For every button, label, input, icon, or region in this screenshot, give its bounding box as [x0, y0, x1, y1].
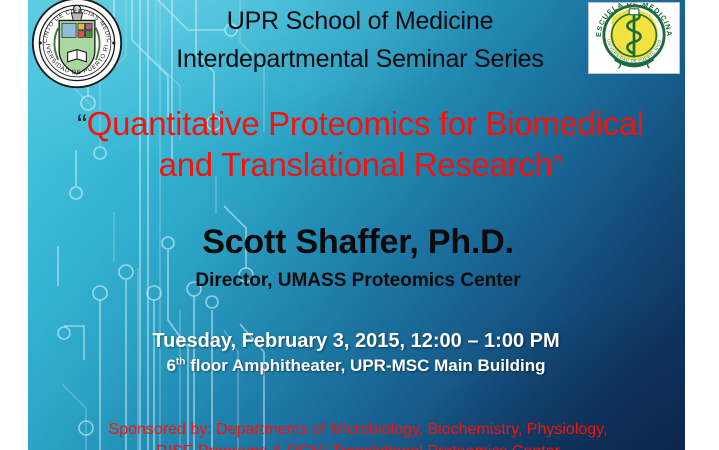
talk-title-line-1: “Quantitative Proteomics for Biomedical: [28, 104, 693, 145]
poster-header: RECINTO DE CIENCIAS MEDICAS UNIVERSIDAD …: [0, 0, 719, 96]
header-line-2: Interdepartmental Seminar Series: [140, 40, 580, 78]
escuela-de-medicina-seal-container: ESCUELA DE MEDICINA UNIVERSIDAD DE PUERT…: [588, 2, 680, 74]
quote-open: “: [77, 109, 87, 142]
speaker-name: Scott Shaffer, Ph.D.: [28, 222, 688, 262]
talk-title-text-1: Quantitative Proteomics for Biomedical: [87, 105, 644, 142]
sponsors-line-1: Sponsored by: Departments of Microbiolog…: [28, 419, 688, 441]
event-location-text: floor Amphitheater, UPR-MSC Main Buildin…: [185, 356, 545, 375]
talk-title-line-2: and Translational Research”: [28, 145, 693, 186]
sponsors-line-2: RISE Programs & RCMI Translational Prote…: [28, 441, 688, 450]
event-location: 6th floor Amphitheater, UPR-MSC Main Bui…: [28, 355, 684, 377]
speaker-affiliation: Director, UMASS Proteomics Center: [28, 269, 688, 293]
quote-close: ”: [553, 150, 563, 183]
event-floor-number: 6: [166, 356, 175, 375]
talk-title-text-2: and Translational Research: [159, 146, 553, 183]
sponsors-block: Sponsored by: Departments of Microbiolog…: [28, 419, 688, 450]
talk-title: “Quantitative Proteomics for Biomedical …: [28, 104, 693, 186]
header-line-1: UPR School of Medicine: [140, 2, 580, 40]
escuela-de-medicina-seal-icon: ESCUELA DE MEDICINA UNIVERSIDAD DE PUERT…: [589, 3, 679, 73]
upr-seal-icon: RECINTO DE CIENCIAS MEDICAS UNIVERSIDAD …: [30, 0, 124, 90]
header-title-block: UPR School of Medicine Interdepartmental…: [140, 2, 580, 78]
event-datetime: Tuesday, February 3, 2015, 12:00 – 1:00 …: [28, 329, 684, 354]
seminar-poster: RECINTO DE CIENCIAS MEDICAS UNIVERSIDAD …: [0, 0, 719, 450]
event-floor-ordinal: th: [176, 356, 185, 367]
